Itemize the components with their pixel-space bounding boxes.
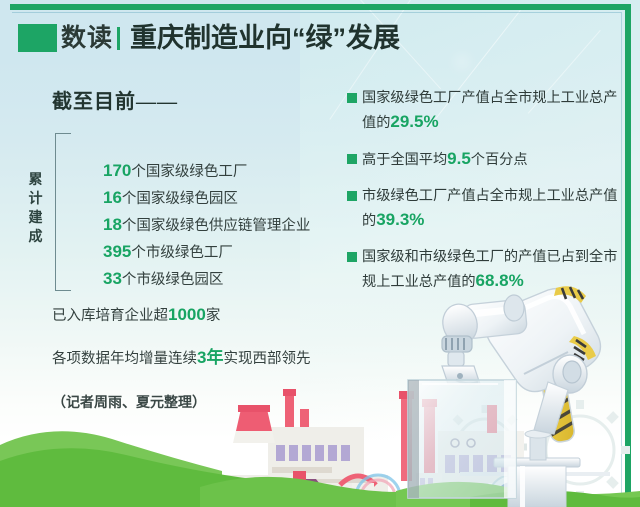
list-item-number: 16 <box>103 188 122 207</box>
industrial-robot-arm-icon <box>398 262 640 507</box>
glass-panel <box>408 380 516 498</box>
bullet-suffix: 个百分点 <box>471 152 528 168</box>
extra-stat-prefix: 已入库培育企业超 <box>52 308 168 324</box>
infographic-root: 数读 重庆制造业向“绿”发展 截至目前—— 累 计 建 成 170个国家级绿色工… <box>0 0 640 507</box>
page-title: 重庆制造业向“绿”发展 <box>130 25 400 52</box>
extra-stat-suffix: 实现西部领先 <box>223 351 310 367</box>
vertical-label-char: 计 <box>26 189 46 208</box>
extra-stat-lines: 已入库培育企业超1000家 各项数据年均增量连续3年实现西部领先 <box>52 305 342 391</box>
header: 数读 重庆制造业向“绿”发展 <box>18 24 400 52</box>
extra-stat-line: 已入库培育企业超1000家 <box>52 305 342 326</box>
header-kicker: 数读 <box>61 26 113 51</box>
frame-top-bar <box>10 4 630 10</box>
list-item-number: 395 <box>103 242 131 261</box>
bullet-item: 国家级绿色工厂产值占全市规上工业总产值的29.5% <box>347 86 619 135</box>
built-list: 170个国家级绿色工厂 16个国家级绿色园区 18个国家级绿色供应链管理企业 3… <box>63 158 373 293</box>
list-item-label: 个国家级绿色工厂 <box>131 164 247 180</box>
list-item-label: 个国家级绿色园区 <box>122 191 238 207</box>
square-bullet-icon <box>347 93 357 103</box>
header-separator-bar <box>117 27 120 50</box>
list-item: 33个市级绿色园区 <box>103 266 373 293</box>
robot-gripper <box>442 336 480 384</box>
square-bullet-icon <box>347 191 357 201</box>
list-item: 16个国家级绿色园区 <box>103 185 373 212</box>
vertical-label-char: 建 <box>26 208 46 227</box>
list-item: 395个市级绿色工厂 <box>103 239 373 266</box>
square-bullet-icon <box>347 154 357 164</box>
extra-stat-prefix: 各项数据年均增量连续 <box>52 351 197 367</box>
extra-stat-number: 1000 <box>168 305 206 324</box>
header-green-block <box>18 24 57 52</box>
list-item: 170个国家级绿色工厂 <box>103 158 373 185</box>
bullet-prefix: 高于全国平均 <box>362 152 447 168</box>
extra-stat-line: 各项数据年均增量连续3年实现西部领先 <box>52 348 342 369</box>
lead-heading: 截至目前—— <box>52 85 178 114</box>
list-item-label: 个国家级绿色供应链管理企业 <box>122 218 311 234</box>
list-item-number: 170 <box>103 161 131 180</box>
list-item-number: 18 <box>103 215 122 234</box>
list-item-number: 33 <box>103 269 122 288</box>
list-item-label: 个市级绿色工厂 <box>131 245 233 261</box>
list-item-label: 个市级绿色园区 <box>122 272 224 288</box>
extra-stat-number: 3年 <box>197 348 223 367</box>
list-item: 18个国家级绿色供应链管理企业 <box>103 212 373 239</box>
vertical-label-char: 成 <box>26 227 46 246</box>
vertical-label-char: 累 <box>26 170 46 189</box>
extra-stat-suffix: 家 <box>206 308 221 324</box>
bullet-item: 高于全国平均9.5个百分点 <box>347 147 619 172</box>
bullet-number: 39.3% <box>376 210 424 229</box>
square-bullet-icon <box>347 252 357 262</box>
bullet-number: 29.5% <box>390 112 438 131</box>
vertical-label-cumulative-built: 累 计 建 成 <box>26 170 46 246</box>
bullet-number: 9.5 <box>447 149 471 168</box>
bullet-item: 市级绿色工厂产值占全市规上工业总产值的39.3% <box>347 184 619 233</box>
